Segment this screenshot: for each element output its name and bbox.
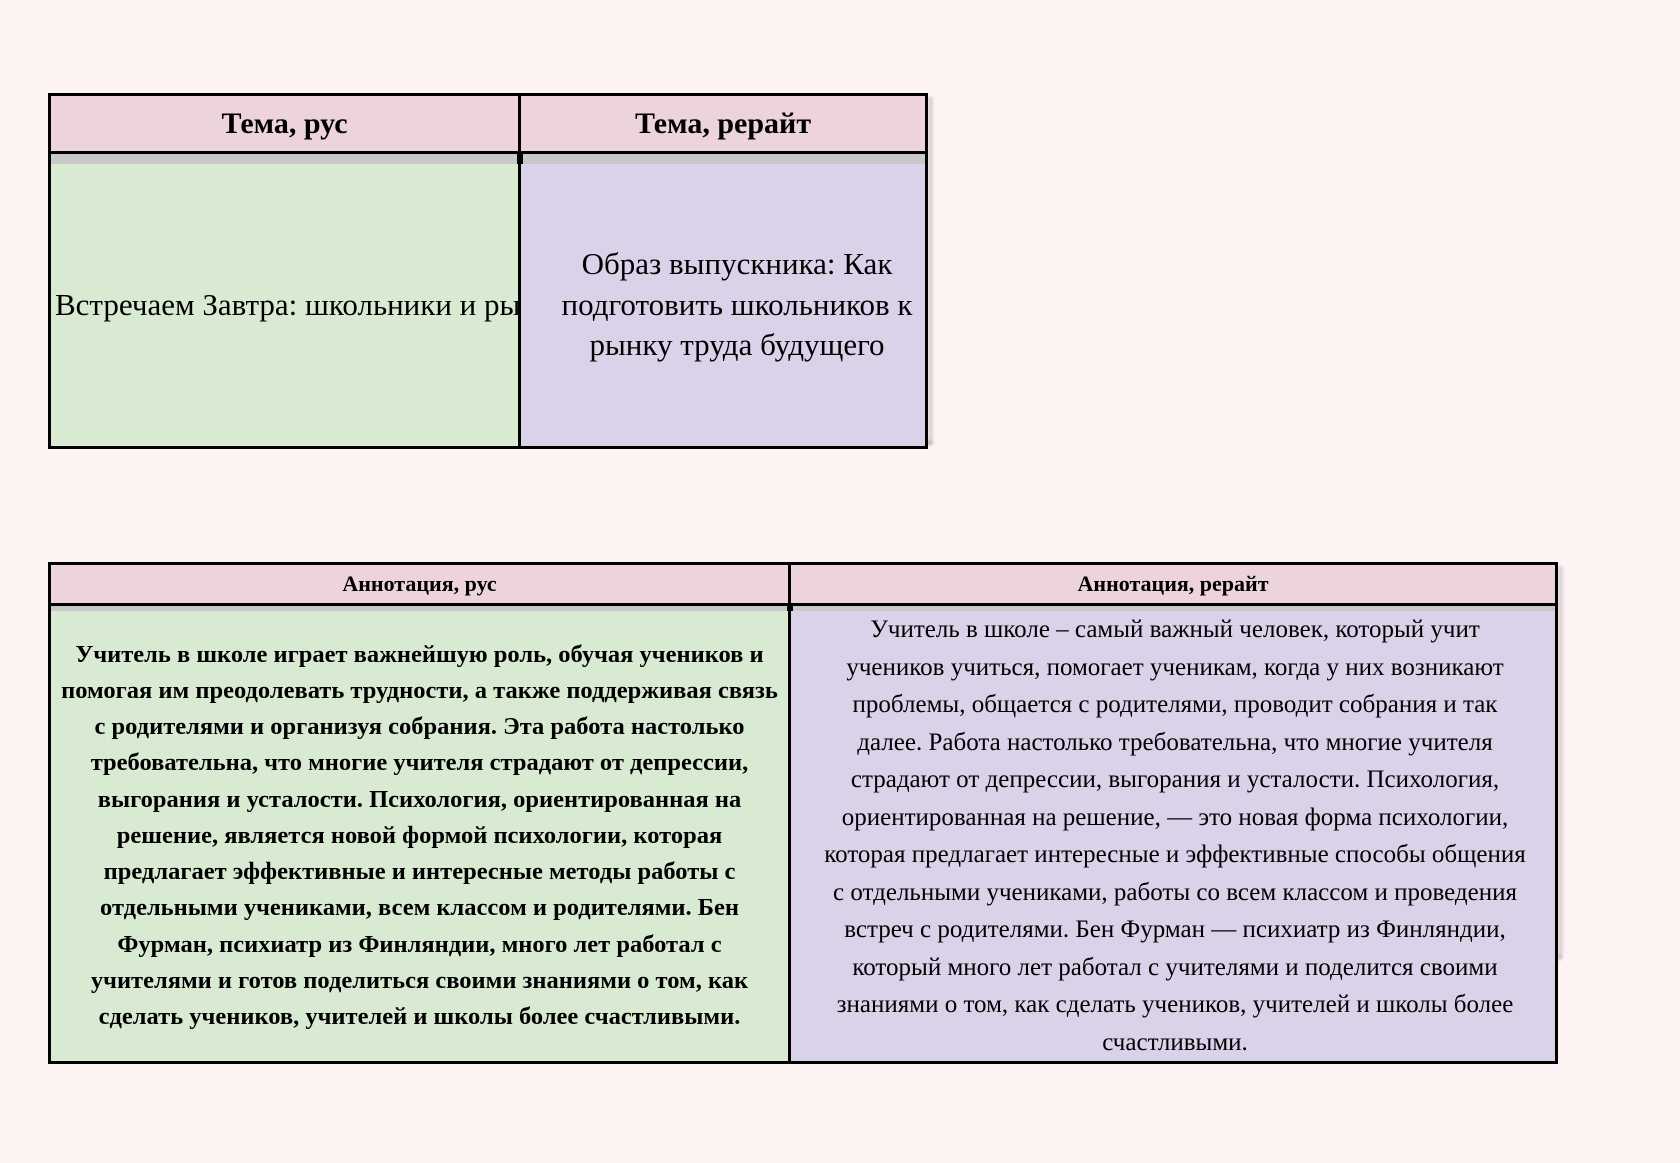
annotation-header-ru: Аннотация, рус	[48, 562, 790, 606]
topic-cell-rewrite-text: Образ выпускника: Как подготовить школьн…	[527, 244, 947, 367]
topic-cell-rewrite: Образ выпускника: Как подготовить школьн…	[520, 164, 928, 449]
page-root: { "page": { "background_color": "#fdf3f3…	[0, 0, 1680, 1163]
topic-table-header-row: Тема, рус Тема, рерайт	[48, 93, 928, 154]
annotation-cell-rewrite: Учитель в школе – самый важный человек, …	[790, 611, 1558, 1064]
annotation-table-row: Учитель в школе играет важнейшую роль, о…	[48, 611, 1558, 1064]
annotation-cell-ru: Учитель в школе играет важнейшую роль, о…	[48, 611, 790, 1064]
annotation-table-header-row: Аннотация, рус Аннотация, рерайт	[48, 562, 1558, 606]
topic-table-row: Встречаем Завтра: школьники и рынок труд…	[48, 164, 928, 449]
topic-gap-left	[48, 154, 520, 164]
topic-header-rewrite: Тема, рерайт	[520, 93, 928, 154]
topic-table-gap-row	[48, 154, 928, 164]
topic-header-ru: Тема, рус	[48, 93, 520, 154]
annotation-table-shadow-right	[1558, 566, 1563, 958]
annotation-comparison-table: Аннотация, рус Аннотация, рерайт Учитель…	[48, 562, 1558, 1064]
topic-cell-ru: Встречаем Завтра: школьники и рынок труд…	[48, 164, 520, 449]
annotation-cell-rewrite-text: Учитель в школе – самый важный человек, …	[819, 611, 1531, 1061]
topic-comparison-table: Тема, рус Тема, рерайт Встречаем Завтра:…	[48, 93, 928, 449]
annotation-header-rewrite: Аннотация, рерайт	[790, 562, 1558, 606]
annotation-cell-ru-text: Учитель в школе играет важнейшую роль, о…	[55, 637, 785, 1036]
topic-gap-right	[520, 154, 928, 164]
